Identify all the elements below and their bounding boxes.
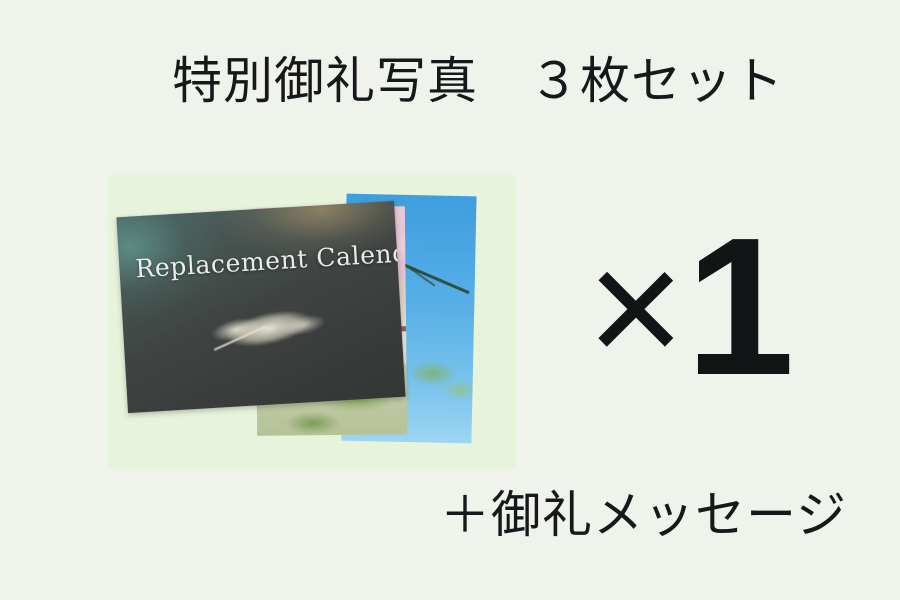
calendar-cover-title: Replacement Calender — [135, 237, 406, 284]
page-title: 特別御礼写真 ３枚セット — [172, 50, 832, 112]
multiply-icon: × — [587, 223, 685, 391]
footer-note: ＋御礼メッセージ — [440, 484, 860, 546]
feather-quill-icon — [214, 326, 266, 351]
calendar-cover-photo: Replacement Calender — [116, 201, 405, 413]
quantity-count: 1 — [686, 209, 791, 405]
quantity-indicator: × 1 — [592, 222, 791, 392]
feather-icon — [199, 289, 340, 372]
photo-collage: Replacement Calender — [108, 175, 516, 469]
poster-canvas: 特別御礼写真 ３枚セット Replacement Calender — [0, 0, 900, 600]
